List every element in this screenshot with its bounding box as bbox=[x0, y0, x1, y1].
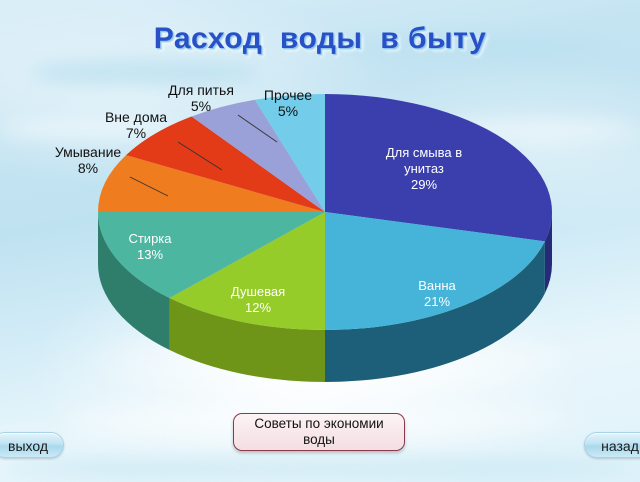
back-button[interactable]: назад bbox=[584, 432, 640, 458]
slide-canvas: Расход воды в быту Для смыва вунитаз29%В… bbox=[0, 0, 640, 482]
pie-chart: Для смыва вунитаз29%Ванна21%Душевая12%Ст… bbox=[0, 0, 640, 482]
slice-label-Умывание: Умывание8% bbox=[55, 144, 122, 176]
exit-button[interactable]: выход bbox=[0, 432, 64, 458]
water-saving-tips-button[interactable]: Советы по экономии воды bbox=[233, 413, 405, 451]
pie-top-faces bbox=[98, 94, 552, 330]
